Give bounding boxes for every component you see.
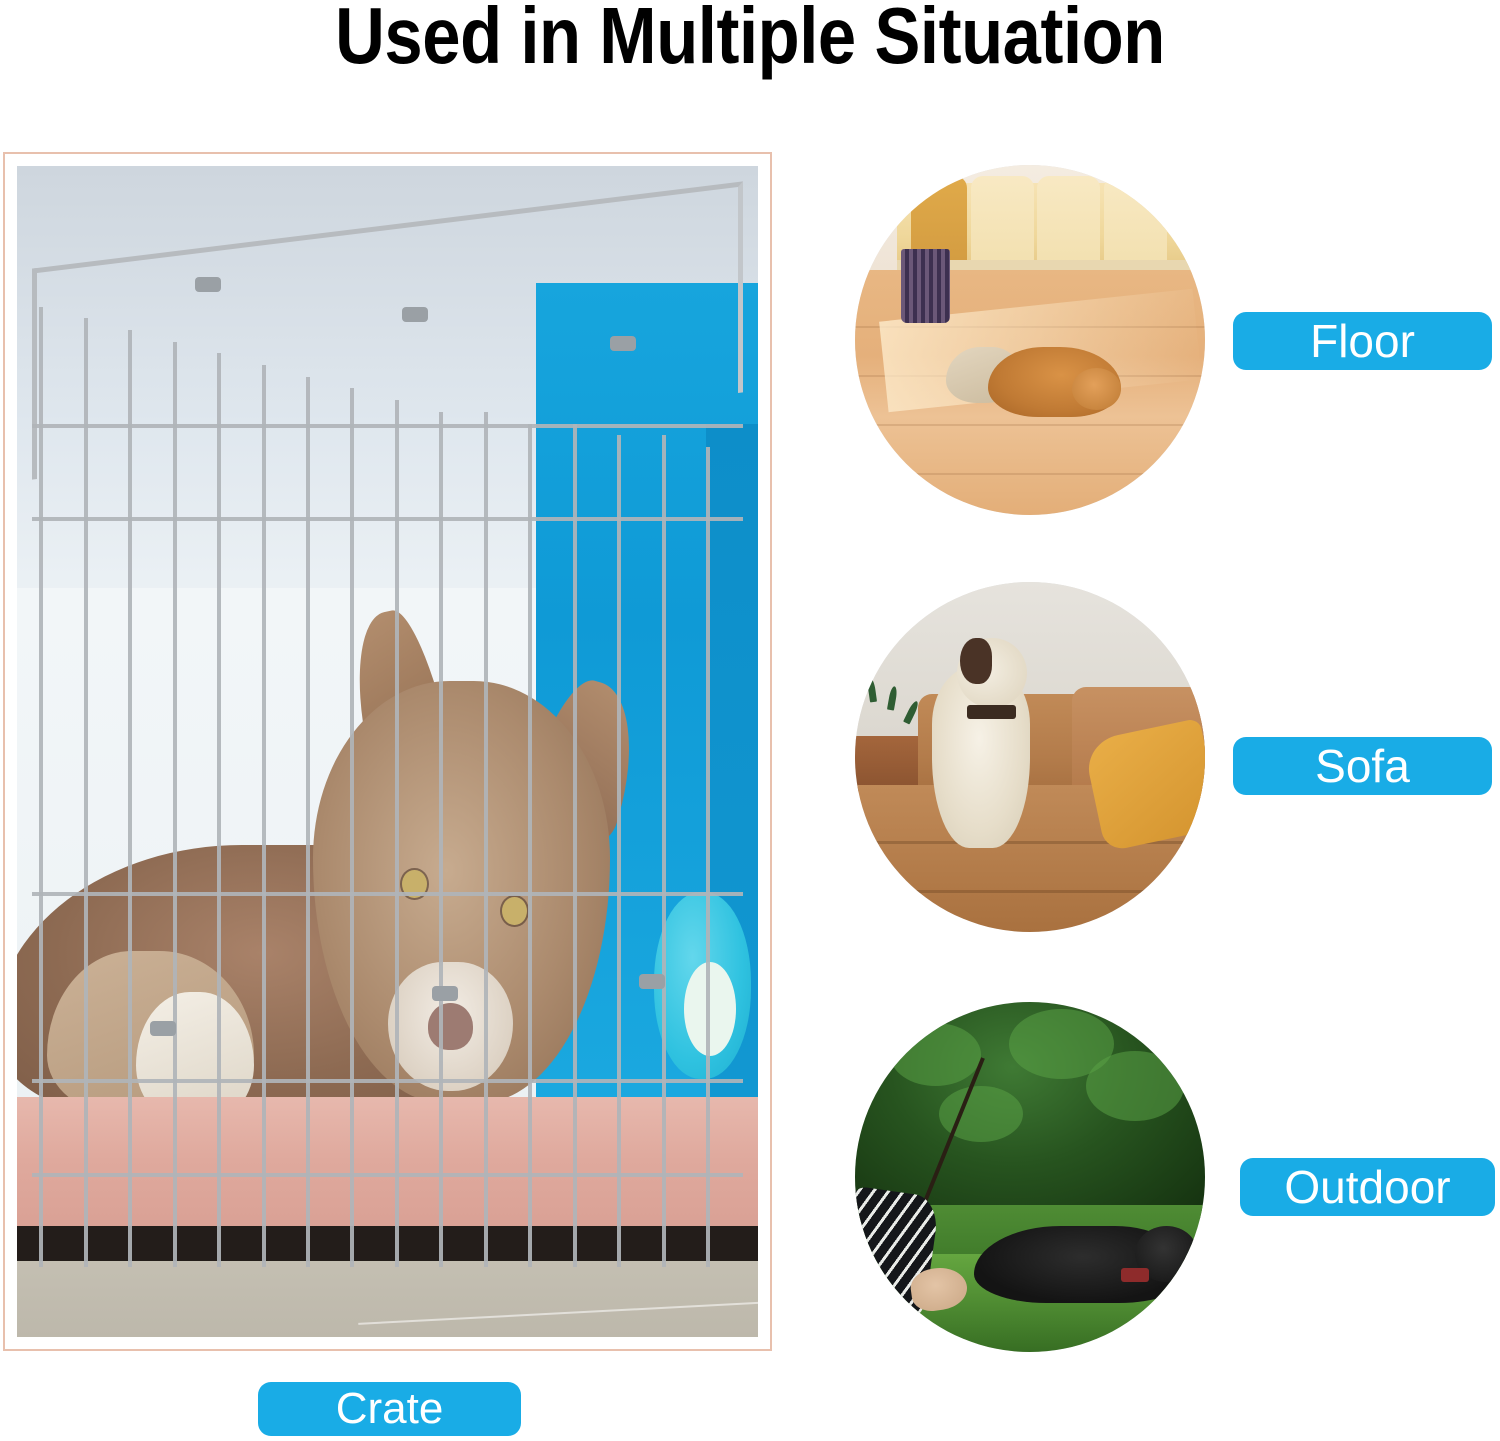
floor-plank-line	[855, 473, 1205, 475]
crate-clip	[432, 986, 458, 1001]
infographic-page: Used in Multiple Situation	[0, 0, 1500, 1441]
crate-wire-vertical	[617, 435, 621, 1266]
crate-wire-vertical	[528, 424, 532, 1267]
crate-wire-horizontal	[32, 1079, 743, 1083]
foliage-blob	[890, 1023, 981, 1086]
crate-wire-vertical	[306, 377, 310, 1267]
crate-photo	[17, 166, 758, 1337]
dog-collar	[1121, 1268, 1149, 1282]
plant-leaf	[866, 678, 876, 702]
dog-collar	[967, 705, 1016, 719]
badge-crate[interactable]: Crate	[258, 1382, 521, 1436]
dog-ear	[960, 638, 992, 684]
floor-plank-line	[855, 424, 1205, 426]
foliage-blob	[1086, 1051, 1184, 1121]
crate-wire-vertical	[217, 353, 221, 1266]
crate-wire-vertical	[84, 318, 88, 1267]
crate-image-frame	[3, 152, 772, 1351]
striped-bin	[901, 249, 950, 323]
crate-wire-vertical	[484, 412, 488, 1267]
crate-wire-horizontal	[32, 424, 743, 428]
crate-wire-horizontal	[32, 892, 743, 896]
badge-floor[interactable]: Floor	[1233, 312, 1492, 370]
crate-wire-horizontal	[32, 517, 743, 521]
badge-outdoor[interactable]: Outdoor	[1240, 1158, 1495, 1216]
dog-head	[1072, 368, 1121, 410]
crate-wire-vertical	[573, 424, 577, 1267]
sofa-seam	[855, 890, 1205, 893]
crate-wire-vertical	[439, 412, 443, 1267]
crate-wire-vertical	[173, 342, 177, 1267]
plant-pot	[855, 736, 922, 792]
plant-leaf	[887, 685, 898, 709]
situation-image-sofa	[855, 582, 1205, 932]
crate-clip	[195, 277, 221, 292]
page-title: Used in Multiple Situation	[105, 0, 1395, 76]
crate-clip	[639, 974, 665, 989]
crate-wire-vertical	[350, 388, 354, 1266]
dog-nose	[428, 1003, 472, 1050]
crate-wire-vertical	[128, 330, 132, 1267]
situation-image-floor	[855, 165, 1205, 515]
crate-clip	[150, 1021, 176, 1036]
crate-wire-vertical	[662, 435, 666, 1266]
crate-clip	[402, 307, 428, 322]
crate-wire-vertical	[395, 400, 399, 1267]
crate-wire-vertical	[706, 447, 710, 1267]
situation-image-outdoor	[855, 1002, 1205, 1352]
dog-eye-right	[502, 897, 526, 925]
crate-wire-horizontal	[32, 1173, 743, 1177]
crate-clip	[610, 336, 636, 351]
plant-leaf	[855, 688, 860, 712]
badge-sofa[interactable]: Sofa	[1233, 737, 1492, 795]
crate-wire-vertical	[262, 365, 266, 1267]
crate-wire-vertical	[39, 307, 43, 1267]
